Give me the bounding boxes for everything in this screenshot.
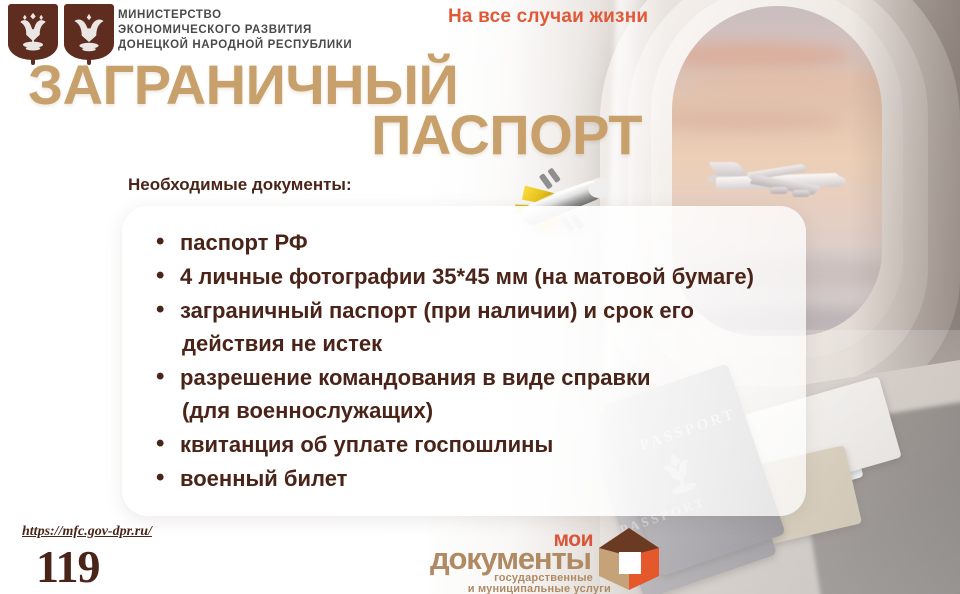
list-item: квитанция об уплате госпошлины: [150, 428, 788, 461]
documents-card: паспорт РФ 4 личные фотографии 35*45 мм …: [122, 206, 806, 516]
ministry-line-2: ЭКОНОМИЧЕСКОГО РАЗВИТИЯ: [118, 23, 352, 38]
ministry-line-1: МИНИСТЕРСТВО: [118, 8, 352, 23]
website-url[interactable]: https://mfc.gov-dpr.ru/: [22, 524, 152, 540]
list-item-text: паспорт РФ: [180, 230, 308, 255]
tagline: На все случаи жизни: [448, 6, 648, 28]
coat-of-arms-russia-icon: [8, 4, 58, 60]
ministry-line-3: ДОНЕЦКОЙ НАРОДНОЙ РЕСПУБЛИКИ: [118, 38, 352, 53]
mfc-logo-sub2: и муниципальные услуги: [468, 583, 611, 594]
mfc-logo: мои документы государственные и муниципа…: [430, 528, 645, 588]
list-item-text: 4 личные фотографии 35*45 мм (на матовой…: [180, 264, 754, 289]
page-title: ЗАГРАНИЧНЫЙ ПАСПОРТ: [0, 60, 700, 160]
mfc-house-icon: [595, 526, 665, 592]
documents-list: паспорт РФ 4 личные фотографии 35*45 мм …: [150, 226, 788, 496]
list-item-text: квитанция об уплате госпошлины: [180, 432, 553, 457]
ministry-name: МИНИСТЕРСТВО ЭКОНОМИЧЕСКОГО РАЗВИТИЯ ДОН…: [118, 8, 352, 53]
poster-root: PASSPORT PASSPORT: [0, 0, 960, 594]
list-item-text: военный билет: [180, 466, 347, 491]
list-item-continuation: (для военнослужащих): [180, 394, 788, 427]
list-item: военный билет: [150, 462, 788, 495]
list-item-text: разрешение командования в виде справки: [180, 365, 651, 390]
list-item: паспорт РФ: [150, 226, 788, 259]
list-item: заграничный паспорт (при наличии) и срок…: [150, 294, 788, 360]
documents-subtitle: Необходимые документы:: [128, 175, 352, 195]
list-item-text: заграничный паспорт (при наличии) и срок…: [180, 298, 694, 323]
coat-of-arms-dpr-icon: [64, 4, 114, 60]
distant-airliner: [708, 156, 848, 200]
hotline-phone-number: 119: [36, 540, 99, 593]
list-item-continuation: действия не истек: [180, 327, 788, 360]
list-item: 4 личные фотографии 35*45 мм (на матовой…: [150, 260, 788, 293]
list-item: разрешение командования в виде справки (…: [150, 361, 788, 427]
